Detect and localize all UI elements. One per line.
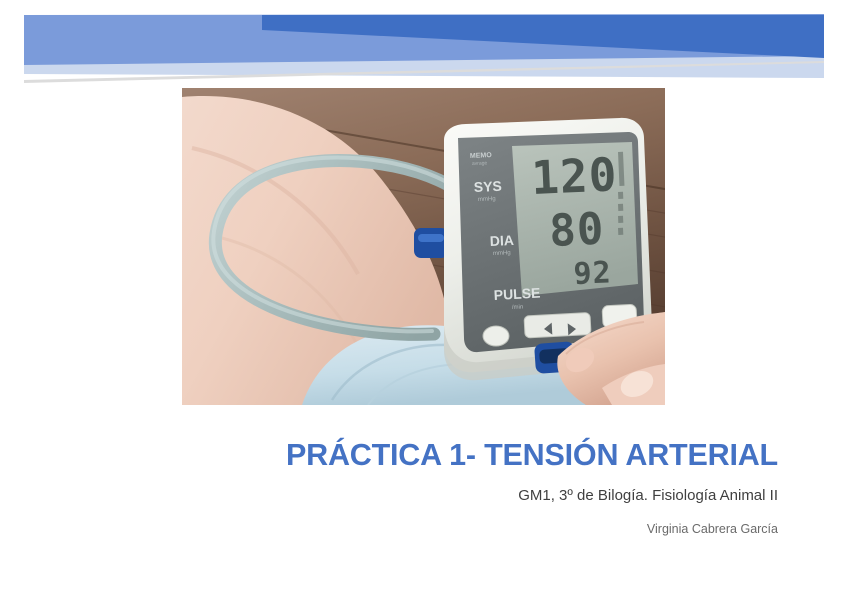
author-name: Virginia Cabrera García xyxy=(278,522,778,536)
label-sys: SYS xyxy=(473,178,502,195)
label-sys-unit: mmHg xyxy=(478,196,496,203)
label-dia: DIA xyxy=(489,232,514,249)
device-nav-rocker xyxy=(524,313,591,338)
banner-band-light xyxy=(24,14,824,78)
course-subtitle: GM1, 3º de Bilogía. Fisiología Animal II xyxy=(278,487,778,504)
label-pulse: PULSE xyxy=(493,285,540,303)
slide-canvas: 120 80 92 MEMO avrage xyxy=(0,0,848,599)
lcd-value-sys: 120 xyxy=(530,147,618,205)
label-memo-sub: avrage xyxy=(472,160,488,167)
page-title: PRÁCTICA 1- TENSIÓN ARTERIAL xyxy=(278,438,778,473)
label-dia-unit: mmHg xyxy=(493,250,511,257)
device-round-button xyxy=(483,326,509,346)
lcd-value-pulse: 92 xyxy=(573,255,613,292)
lcd-value-dia: 80 xyxy=(548,204,605,257)
blood-pressure-monitor-photo: 120 80 92 MEMO avrage xyxy=(182,88,665,405)
label-memo: MEMO xyxy=(470,152,493,160)
banner-band-dark xyxy=(262,15,824,58)
header-banner xyxy=(0,0,848,100)
banner-rule xyxy=(24,61,824,83)
label-pulse-unit: /min xyxy=(512,304,524,311)
banner-band-mid xyxy=(24,14,824,65)
